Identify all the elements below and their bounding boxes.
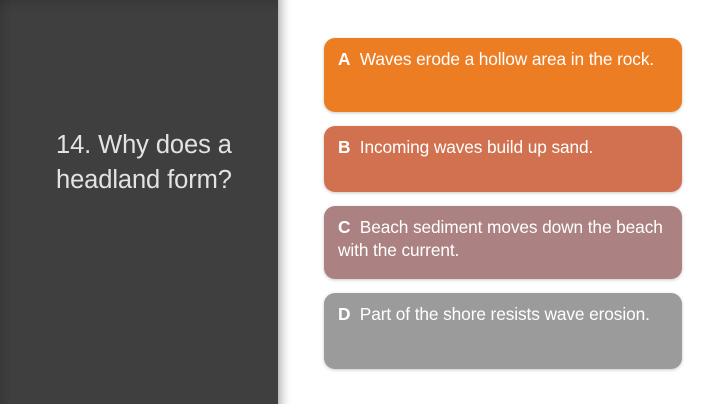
answer-text-a: Waves erode a hollow area in the rock.: [360, 49, 654, 69]
panel-divider-shadow: [278, 0, 292, 404]
answer-option-b[interactable]: BIncoming waves build up sand.: [324, 126, 682, 192]
answer-text-b: Incoming waves build up sand.: [360, 137, 593, 157]
answer-text-d: Part of the shore resists wave erosion.: [360, 304, 650, 324]
answer-letter-d: D: [338, 304, 360, 324]
answer-options-list: AWaves erode a hollow area in the rock. …: [324, 38, 682, 369]
answer-option-c[interactable]: CBeach sediment moves down the beach wit…: [324, 206, 682, 279]
answer-option-a[interactable]: AWaves erode a hollow area in the rock.: [324, 38, 682, 112]
answer-text-c: Beach sediment moves down the beach with…: [338, 217, 663, 260]
page-title: 14. Why does a headland form?: [56, 128, 256, 198]
quiz-slide: 14. Why does a headland form? AWaves ero…: [0, 0, 720, 404]
answer-letter-a: A: [338, 49, 360, 69]
question-panel: 14. Why does a headland form?: [0, 0, 278, 404]
answer-letter-b: B: [338, 137, 360, 157]
answer-letter-c: C: [338, 217, 360, 237]
answer-option-d[interactable]: DPart of the shore resists wave erosion.: [324, 293, 682, 369]
